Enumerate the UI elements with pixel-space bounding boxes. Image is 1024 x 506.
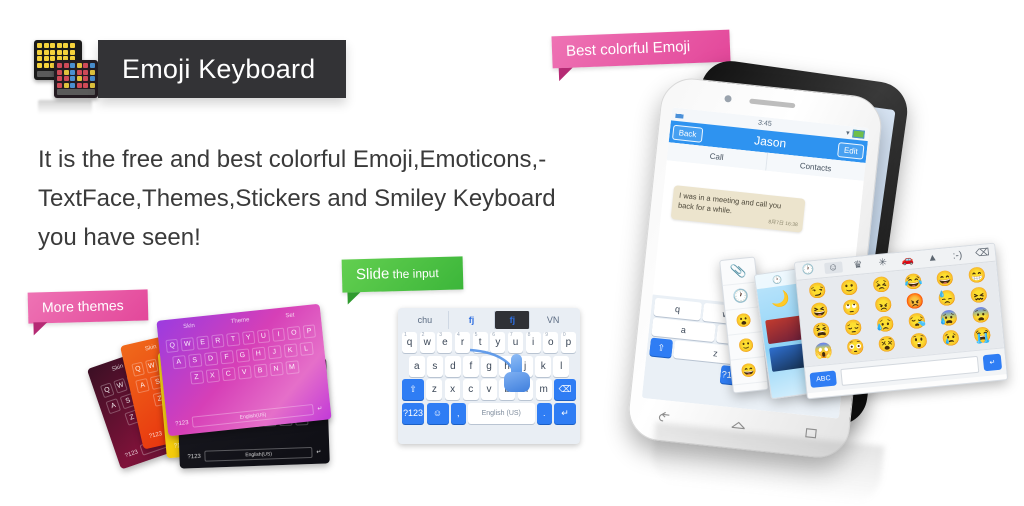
- photo-tile[interactable]: [765, 315, 804, 344]
- callout-label-sub: the input: [389, 266, 439, 281]
- theme-key[interactable]: G: [235, 348, 249, 362]
- theme-key[interactable]: F: [219, 350, 233, 364]
- key-d[interactable]: d: [445, 356, 461, 377]
- callout-body: Slide the input: [342, 256, 464, 292]
- clock-icon[interactable]: 🕐: [723, 282, 759, 310]
- emoji-cell[interactable]: 😫: [806, 321, 838, 342]
- shift-key[interactable]: ⇧: [649, 338, 673, 358]
- message-time: 8月7日 16:38: [768, 217, 798, 230]
- icon-emoji-key: [37, 63, 42, 68]
- conversation-title: Jason: [754, 133, 787, 150]
- theme-num-key[interactable]: ?123: [148, 431, 162, 440]
- emoji-cell[interactable]: 😆: [804, 301, 836, 322]
- theme-key[interactable]: M: [285, 360, 299, 374]
- comma-key[interactable]: ,: [451, 403, 466, 424]
- icon-emoji-key: [70, 50, 75, 55]
- icon-emoji-key: [83, 63, 88, 68]
- key-number: 6: [492, 332, 495, 338]
- emoji-cell[interactable]: 😵: [871, 335, 903, 356]
- theme-num-key[interactable]: ?123: [175, 420, 189, 427]
- emoji-cell[interactable]: 😏: [802, 281, 834, 302]
- emoji-cell[interactable]: 😠: [868, 295, 900, 316]
- theme-key[interactable]: L: [299, 342, 313, 356]
- theme-num-key[interactable]: ?123: [187, 453, 201, 459]
- description-text: It is the free and best colorful Emoji,E…: [38, 140, 638, 257]
- theme-key[interactable]: A: [135, 378, 150, 393]
- swipe-keyboard-mockup[interactable]: chufjfjVN 1q2w3e4r5t6y7u8i9o0pasdfghjkl⇧…: [398, 308, 580, 444]
- icon-emoji-key: [83, 70, 88, 75]
- promo-banner: Emoji Keyboard It is the free and best c…: [0, 0, 1024, 500]
- abc-key[interactable]: ABC: [810, 370, 838, 387]
- enter-key[interactable]: ↵: [554, 403, 576, 424]
- edit-button[interactable]: Edit: [837, 142, 864, 160]
- icon-emoji-key: [50, 43, 55, 48]
- theme-key[interactable]: E: [196, 336, 210, 350]
- emoji-cell[interactable]: 🙂: [834, 278, 866, 299]
- clock-icon[interactable]: 🕐: [799, 264, 818, 277]
- key-v[interactable]: v: [481, 379, 497, 400]
- theme-key[interactable]: Y: [242, 331, 256, 345]
- icon-emoji-key: [83, 83, 88, 88]
- icon-emoji-key: [90, 76, 95, 81]
- callout-tail: [347, 292, 360, 304]
- car-icon[interactable]: 🚗: [898, 254, 917, 267]
- key-number: 9: [545, 332, 548, 338]
- theme-tab[interactable]: Theme: [231, 317, 250, 325]
- theme-tab[interactable]: Skin: [183, 323, 195, 330]
- theme-key[interactable]: O: [287, 326, 301, 340]
- backspace-icon[interactable]: ⌫: [973, 247, 992, 260]
- key-t[interactable]: 5t: [473, 332, 488, 353]
- theme-enter-key[interactable]: ↵: [316, 449, 321, 456]
- enter-key[interactable]: ↵: [983, 354, 1002, 372]
- attach-icon[interactable]: 📎: [720, 258, 756, 286]
- key-o[interactable]: 9o: [543, 332, 558, 353]
- keyboard-row[interactable]: 1q2w3e4r5t6y7u8i9o0p: [402, 332, 576, 353]
- key-q[interactable]: 1q: [402, 332, 417, 353]
- theme-key[interactable]: I: [272, 328, 286, 342]
- emoji-keyboard-app-icon: [28, 38, 102, 106]
- icon-emoji-key: [70, 76, 75, 81]
- key-k[interactable]: k: [535, 356, 551, 377]
- emoji-cell[interactable]: 😂: [898, 272, 930, 293]
- keyboard-row[interactable]: ?123☺,English (US).↵: [402, 403, 576, 424]
- message-text: I was in a meeting and call you back for…: [678, 191, 782, 216]
- icon-emoji-key: [44, 56, 49, 61]
- theme-bottom-row[interactable]: ?123English(US)↵: [187, 447, 321, 463]
- key-e[interactable]: 3e: [437, 332, 452, 353]
- emoji-item[interactable]: 😮: [725, 307, 761, 335]
- backspace-key[interactable]: ⌫: [554, 379, 576, 400]
- key-number: 0: [563, 332, 566, 338]
- key-f[interactable]: f: [463, 356, 479, 377]
- emoji-key[interactable]: ☺: [427, 403, 449, 424]
- emoji-cell[interactable]: 😔: [838, 318, 870, 339]
- theme-key[interactable]: S: [188, 353, 202, 367]
- description-line-1: It is the free and best colorful Emoji,E…: [38, 140, 638, 179]
- theme-key[interactable]: J: [267, 345, 281, 359]
- icon-emoji-key: [64, 83, 69, 88]
- phone-camera: [724, 95, 732, 103]
- period-key[interactable]: .: [537, 403, 552, 424]
- theme-key[interactable]: Z: [189, 370, 203, 384]
- key-number: 4: [457, 332, 460, 338]
- key-m[interactable]: m: [536, 379, 552, 400]
- theme-key[interactable]: A: [106, 398, 122, 414]
- key-number: 5: [475, 332, 478, 338]
- theme-tab[interactable]: Skin: [145, 344, 158, 352]
- wifi-icon: ▾: [846, 128, 850, 136]
- icon-emoji-key: [50, 50, 55, 55]
- emoji-cell[interactable]: 😱: [808, 341, 840, 362]
- description-line-2: TextFace,Themes,Stickers and Smiley Keyb…: [38, 179, 638, 218]
- icon-emoji-key: [90, 83, 95, 88]
- page-title: Emoji Keyboard: [98, 54, 315, 85]
- icon-emoji-key: [64, 70, 69, 75]
- emoji-cell[interactable]: 😪: [901, 312, 933, 333]
- key-number: 8: [528, 332, 531, 338]
- emoji-item[interactable]: 🙂: [728, 332, 764, 360]
- icon-emoji-key: [37, 43, 42, 48]
- description-line-3: you have seen!: [38, 218, 638, 257]
- key-number: 1: [404, 332, 407, 338]
- theme-tab[interactable]: Set: [285, 312, 295, 319]
- theme-tab[interactable]: Skin: [111, 363, 124, 372]
- theme-key[interactable]: A: [172, 355, 186, 369]
- theme-key[interactable]: N: [269, 362, 283, 376]
- key-q[interactable]: q: [653, 298, 701, 321]
- emoji-cell[interactable]: 😰: [933, 309, 965, 330]
- key-c[interactable]: c: [463, 379, 479, 400]
- key-g[interactable]: g: [481, 356, 497, 377]
- emoji-cell[interactable]: 😨: [965, 306, 997, 327]
- key-s[interactable]: s: [427, 356, 443, 377]
- theme-key[interactable]: P: [302, 324, 316, 338]
- emoji-item[interactable]: 😄: [731, 357, 767, 385]
- theme-key[interactable]: W: [113, 378, 128, 394]
- keyboard-row[interactable]: asdfghjkl: [402, 356, 576, 377]
- icon-emoji-key: [90, 70, 95, 75]
- key-l[interactable]: l: [553, 356, 569, 377]
- icon-emoji-key: [57, 83, 62, 88]
- suggestion-1[interactable]: chu: [402, 311, 449, 329]
- theme-key[interactable]: T: [226, 332, 240, 346]
- callout-tail: [33, 322, 47, 335]
- suggestion-bar[interactable]: chufjfjVN: [402, 311, 576, 329]
- emoji-cell[interactable]: 😳: [840, 338, 872, 359]
- emoticon-tab[interactable]: :-): [948, 249, 967, 262]
- theme-key-rows[interactable]: QWERTYUIOPASDFGHJKLZXCVBNM: [165, 324, 320, 390]
- theme-key[interactable]: Q: [131, 362, 145, 377]
- icon-emoji-key: [70, 43, 75, 48]
- theme-key[interactable]: Q: [165, 339, 179, 353]
- theme-key[interactable]: B: [253, 364, 267, 378]
- theme-key[interactable]: C: [221, 367, 235, 381]
- keyboard-rows[interactable]: 1q2w3e4r5t6y7u8i9o0pasdfghjkl⇧zxcvbnm⌫?1…: [402, 332, 576, 424]
- hand-palm: [504, 372, 530, 392]
- emoji-cell[interactable]: 😖: [963, 286, 995, 307]
- icon-emoji-key: [70, 63, 75, 68]
- icon-emoji-key: [57, 43, 62, 48]
- icon-emoji-key: [44, 43, 49, 48]
- phone-reflection: [649, 422, 884, 506]
- phone-speaker: [749, 99, 795, 109]
- icon-emoji-key: [77, 70, 82, 75]
- emoji-cell[interactable]: 😭: [967, 326, 999, 347]
- icon-emoji-key: [37, 50, 42, 55]
- emoji-cell[interactable]: 😁: [961, 266, 993, 287]
- icon-space-bar: [57, 89, 95, 95]
- space-key[interactable]: English (US): [468, 403, 535, 424]
- key-z[interactable]: z: [426, 379, 442, 400]
- icon-emoji-dots: [57, 63, 95, 88]
- theme-card-purple-magenta[interactable]: SkinThemeSetQWERTYUIOPASDFGHJKLZXCVBNM?1…: [156, 304, 331, 437]
- callout-slide-the-input: Slide the input: [342, 256, 464, 292]
- key-y[interactable]: 6y: [490, 332, 505, 353]
- crown-icon[interactable]: ♛: [848, 259, 867, 272]
- emoji-cell[interactable]: 😣: [866, 275, 898, 296]
- moon-sticker[interactable]: 🌙: [761, 288, 800, 317]
- icon-reflection: [38, 100, 92, 114]
- icon-emoji-key: [70, 70, 75, 75]
- back-button[interactable]: Back: [672, 124, 703, 142]
- status-icons: ▾: [846, 128, 865, 138]
- shift-key[interactable]: ⇧: [402, 379, 424, 400]
- suggestion-3[interactable]: fj: [495, 311, 530, 329]
- num-key[interactable]: ?123: [402, 403, 424, 424]
- icon-emoji-key: [64, 63, 69, 68]
- key-u[interactable]: 7u: [508, 332, 523, 353]
- emoji-cell[interactable]: 😢: [935, 329, 967, 350]
- icon-emoji-key: [37, 56, 42, 61]
- key-x[interactable]: x: [445, 379, 461, 400]
- key-a[interactable]: a: [409, 356, 425, 377]
- key-number: 2: [422, 332, 425, 338]
- icon-emoji-key: [77, 83, 82, 88]
- theme-key[interactable]: Q: [100, 382, 115, 398]
- icon-emoji-key: [63, 43, 68, 48]
- icon-emoji-key: [57, 70, 62, 75]
- icon-emoji-key: [44, 50, 49, 55]
- signal-icon: [675, 111, 684, 119]
- emoji-keyboard-panel[interactable]: 🕐☺♛✳🚗▲:-)⌫ 😏🙂😣😂😄😁😆🙄😠😡😓😖😫😔😥😪😰😨😱😳😵😲😢😭 ABC …: [794, 243, 1008, 400]
- key-w[interactable]: 2w: [420, 332, 435, 353]
- theme-key[interactable]: X: [205, 369, 219, 383]
- icon-keyboard-front: [54, 60, 98, 98]
- swipe-hand-cursor: [504, 354, 530, 392]
- theme-card-fan: SkinThemeSetQWERTYUIOPASDFGHJKLZXCVBNM?1…: [100, 312, 340, 462]
- icon-emoji-key: [77, 76, 82, 81]
- key-r[interactable]: 4r: [455, 332, 470, 353]
- theme-space-key[interactable]: English(US): [205, 447, 313, 462]
- keyboard-row[interactable]: ⇧zxcvbnm⌫: [402, 379, 576, 400]
- emoji-cell[interactable]: 🙄: [836, 298, 868, 319]
- callout-label-main: Slide: [356, 265, 390, 283]
- theme-key[interactable]: W: [145, 359, 159, 374]
- key-i[interactable]: 8i: [526, 332, 541, 353]
- page-title-bar: Emoji Keyboard: [98, 40, 346, 98]
- icon-emoji-key: [90, 63, 95, 68]
- icon-emoji-key: [83, 76, 88, 81]
- suggestion-4[interactable]: VN: [530, 311, 576, 329]
- callout-tail: [559, 68, 573, 82]
- icon-emoji-key: [77, 63, 82, 68]
- callout-label: Best colorful Emoji: [566, 38, 691, 60]
- smiley-icon[interactable]: ☺: [824, 261, 843, 274]
- theme-key[interactable]: D: [204, 352, 218, 366]
- emoji-cell[interactable]: 😲: [903, 332, 935, 353]
- theme-key[interactable]: U: [257, 329, 271, 343]
- theme-key[interactable]: W: [181, 337, 195, 351]
- key-p[interactable]: 0p: [561, 332, 576, 353]
- emoji-cell[interactable]: 😄: [929, 269, 961, 290]
- icon-emoji-key: [44, 63, 49, 68]
- key-number: 3: [439, 332, 442, 338]
- theme-key[interactable]: R: [211, 334, 225, 348]
- battery-icon: [852, 129, 865, 138]
- key-number: 7: [510, 332, 513, 338]
- icon-emoji-key: [63, 50, 68, 55]
- theme-num-key[interactable]: ?123: [124, 449, 139, 459]
- icon-emoji-key: [57, 50, 62, 55]
- triangle-icon[interactable]: ▲: [923, 252, 942, 265]
- flower-icon[interactable]: ✳: [873, 257, 892, 270]
- emoji-cell[interactable]: 😡: [900, 292, 932, 313]
- icon-emoji-key: [64, 76, 69, 81]
- theme-enter-key[interactable]: ↵: [317, 405, 323, 412]
- icon-emoji-key: [57, 76, 62, 81]
- icon-emoji-key: [70, 83, 75, 88]
- theme-key[interactable]: H: [251, 347, 265, 361]
- theme-key[interactable]: K: [283, 343, 297, 357]
- message-bubble-incoming: I was in a meeting and call you back for…: [671, 185, 806, 233]
- theme-key[interactable]: V: [237, 365, 251, 379]
- suggestion-2[interactable]: fj: [449, 311, 496, 329]
- emoji-cell[interactable]: 😥: [870, 315, 902, 336]
- emoji-cell[interactable]: 😓: [931, 289, 963, 310]
- icon-emoji-key: [57, 63, 62, 68]
- status-time: 3:45: [758, 120, 772, 128]
- clock-icon[interactable]: 🕐: [771, 274, 782, 284]
